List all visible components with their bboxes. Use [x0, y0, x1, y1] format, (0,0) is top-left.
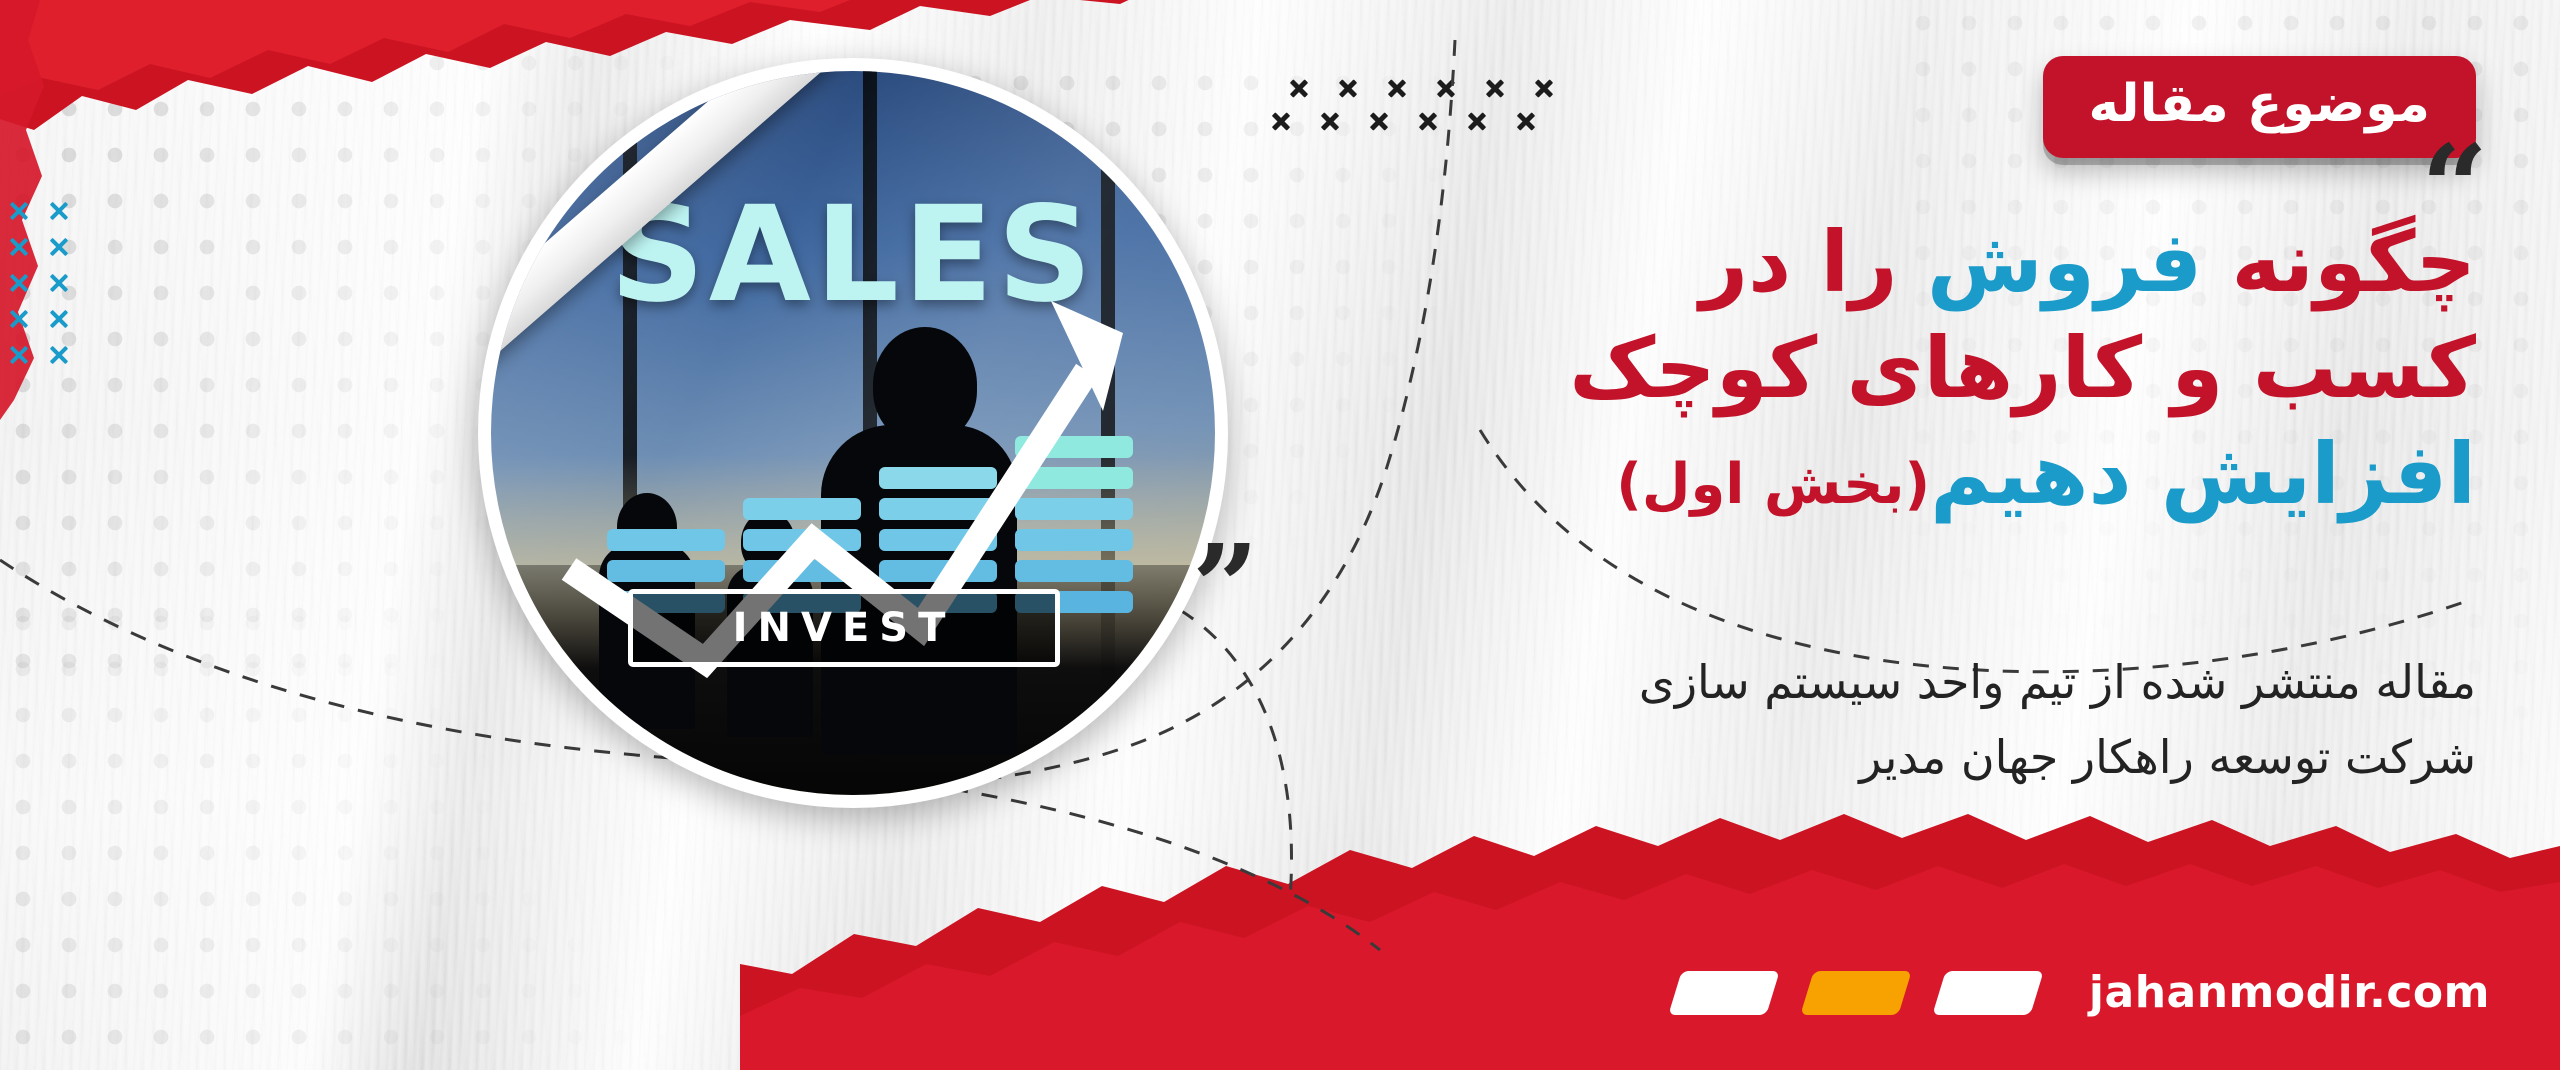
headline: “ چگونه فروش را در کسب و کارهای کوچک افز… — [1196, 210, 2476, 527]
x-mark-icon — [48, 200, 70, 222]
byline-text: مقاله منتشر شده از تیم واحد سیستم سازی ش… — [1196, 645, 2476, 794]
invest-button[interactable]: INVEST — [628, 589, 1060, 667]
x-mark-icon — [8, 308, 30, 330]
x-mark-icon — [48, 344, 70, 366]
hero-circle-image: SALES — [478, 58, 1228, 808]
circle-photo-inner: SALES — [491, 71, 1215, 795]
torn-red-shape-bottom-right — [740, 770, 2560, 1070]
headline-line1-highlight: فروش — [1927, 213, 2202, 311]
headline-line-1: چگونه فروش را در — [1196, 210, 2476, 316]
x-mark-icon — [48, 236, 70, 258]
x-mark-icon — [8, 272, 30, 294]
x-mark-icon — [8, 200, 30, 222]
byline-line-2: شرکت توسعه راهکار جهان مدیر — [1196, 720, 2476, 795]
headline-line-3: افزایش دهیم(بخش اول) — [1196, 422, 2476, 528]
quote-open-mark: “ — [2421, 154, 2488, 224]
growth-arrow-icon — [491, 71, 1215, 795]
logo-block-white-2 — [1932, 971, 2043, 1015]
x-mark-icon — [8, 236, 30, 258]
headline-line-2: کسب و کارهای کوچک — [1196, 316, 2476, 422]
website-domain[interactable]: jahanmodir.com — [2089, 967, 2490, 1018]
content-column: موضوع مقاله “ چگونه فروش را در کسب و کار… — [1196, 40, 2476, 795]
article-topic-badge: موضوع مقاله — [2043, 56, 2476, 158]
quote-close-mark: ” — [1192, 554, 1259, 624]
headline-line3-highlight: افزایش دهیم — [1930, 425, 2476, 523]
headline-part-label: (بخش اول) — [1616, 452, 1930, 517]
x-mark-icon — [48, 272, 70, 294]
headline-line1-suffix: را در — [1700, 213, 1927, 311]
logo-block-white-1 — [1668, 971, 1779, 1015]
logo-block-orange — [1800, 971, 1911, 1015]
x-mark-icon — [48, 308, 70, 330]
byline-line-1: مقاله منتشر شده از تیم واحد سیستم سازی — [1196, 645, 2476, 720]
blue-x-marks-decoration — [8, 200, 98, 380]
article-banner: SALES — [0, 0, 2560, 1070]
x-mark-icon — [8, 344, 30, 366]
footer-bar: jahanmodir.com — [1675, 967, 2490, 1018]
